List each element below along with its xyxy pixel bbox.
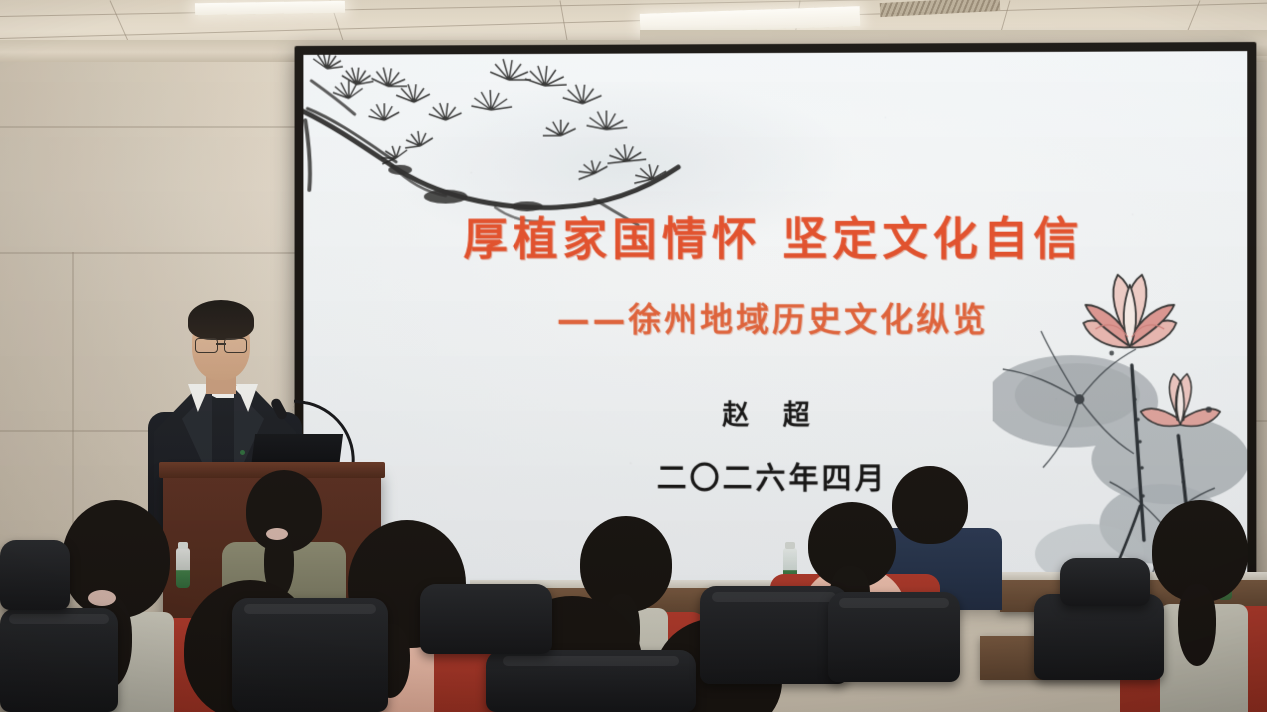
speaker-glasses bbox=[195, 338, 247, 351]
chair-center[interactable] bbox=[486, 650, 696, 712]
chair-back-right[interactable] bbox=[1060, 558, 1150, 606]
student-row2r-ponytail bbox=[1178, 584, 1216, 666]
chair-center-left[interactable] bbox=[232, 598, 388, 712]
student-olive-hair-tie bbox=[266, 528, 288, 540]
lecture-hall-photo: 厚植家国情怀 坚定文化自信 ——徐州地域历史文化纵览 赵 超 二〇二六年四月 bbox=[0, 0, 1267, 712]
chair-left-mid[interactable] bbox=[0, 540, 70, 610]
chair-highlight bbox=[244, 604, 375, 614]
ceiling-vent bbox=[880, 0, 1001, 17]
slide-date: 二〇二六年四月 bbox=[303, 452, 1247, 498]
chair-highlight bbox=[712, 592, 836, 602]
room: 厚植家国情怀 坚定文化自信 ——徐州地域历史文化纵览 赵 超 二〇二六年四月 bbox=[0, 0, 1267, 712]
slide-subtitle: ——徐州地域历史文化纵览 bbox=[303, 293, 1247, 341]
slide-author: 赵 超 bbox=[303, 393, 1247, 433]
chair-highlight bbox=[839, 598, 950, 608]
chair-center-right[interactable] bbox=[700, 586, 848, 684]
ceiling-light-panel bbox=[195, 1, 345, 16]
chair-right[interactable] bbox=[828, 592, 960, 682]
chair-mid-left[interactable] bbox=[420, 584, 552, 654]
chair-highlight bbox=[9, 614, 108, 624]
slide-title: 厚植家国情怀 坚定文化自信 bbox=[303, 202, 1247, 268]
chair-highlight bbox=[503, 656, 679, 666]
student-left-hair-tie bbox=[88, 590, 116, 606]
speaker-lapel-pin bbox=[240, 450, 245, 455]
speaker-hair bbox=[188, 300, 254, 340]
chair-front-left[interactable] bbox=[0, 608, 118, 712]
chair-far-right[interactable] bbox=[1034, 594, 1164, 680]
